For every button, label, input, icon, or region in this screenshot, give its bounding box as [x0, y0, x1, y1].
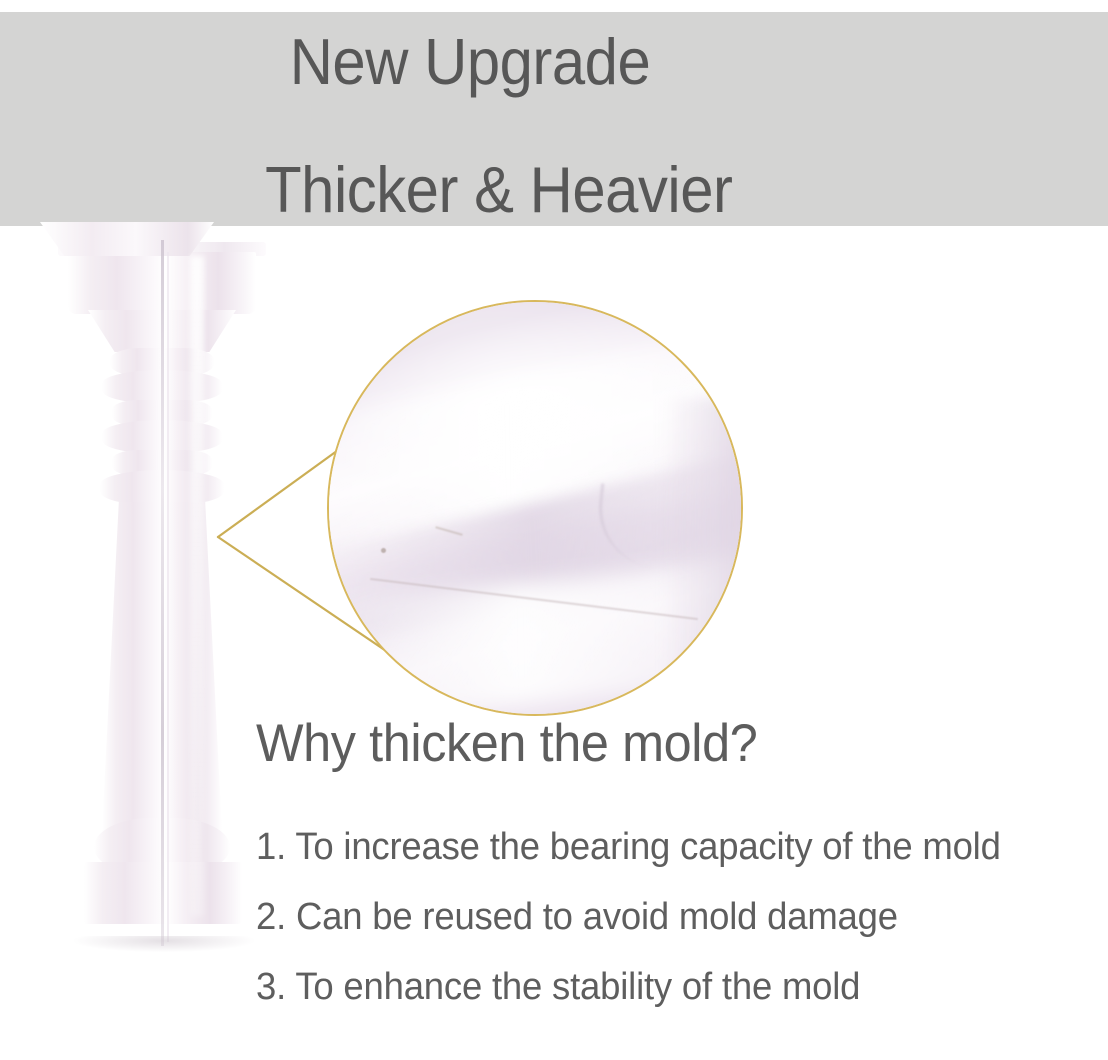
header-title-line-2: Thicker & Heavier	[44, 154, 1063, 226]
reason-item-2: 2. Can be reused to avoid mold damage	[256, 882, 1072, 952]
reason-item-3: 3. To enhance the stability of the mold	[256, 952, 1072, 1022]
zoom-callout	[180, 280, 780, 740]
header-title-line-1: New Upgrade	[38, 26, 903, 98]
magnifier-circle	[327, 300, 743, 716]
mold-seam-line-secondary	[167, 252, 169, 942]
zoom-surface-speck	[381, 548, 386, 553]
mold-ground-shadow	[74, 936, 254, 952]
reason-item-1: 1. To increase the bearing capacity of t…	[256, 812, 1072, 882]
reasons-list: 1. To increase the bearing capacity of t…	[256, 812, 1106, 1022]
mold-seam-line	[161, 240, 164, 946]
section-heading-why-thicken: Why thicken the mold?	[256, 712, 757, 776]
promo-image-root: New Upgrade Thicker & Heavier	[0, 0, 1108, 1060]
header-banner: New Upgrade Thicker & Heavier	[0, 12, 1108, 226]
mold-base-foot	[40, 222, 214, 256]
